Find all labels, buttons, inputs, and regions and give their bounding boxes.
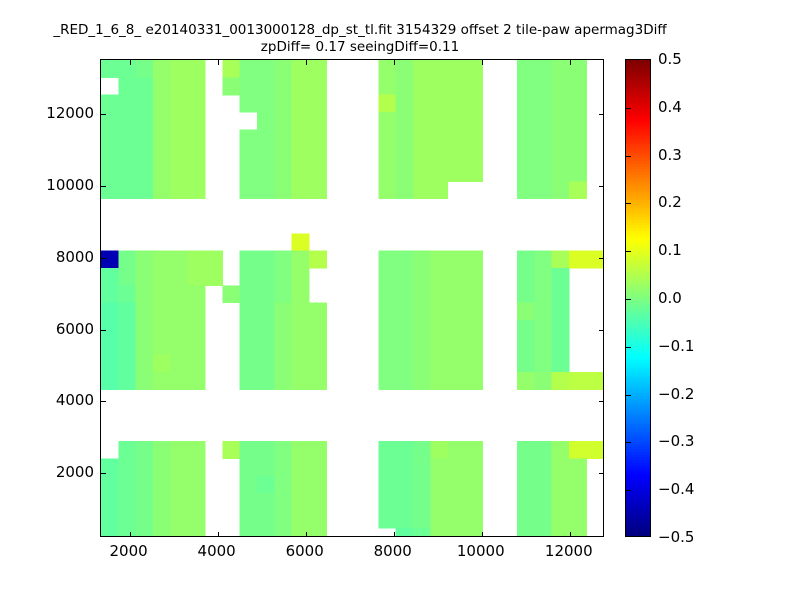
heatmap-cell (413, 303, 431, 321)
heatmap-cell (569, 511, 587, 529)
colorbar-tick-mark (626, 299, 631, 300)
heatmap-cell (413, 77, 431, 95)
heatmap-cell (378, 112, 396, 130)
heatmap-cell (569, 147, 587, 165)
heatmap-cell (396, 268, 414, 286)
heatmap-cell (534, 77, 552, 95)
heatmap-cell (118, 337, 136, 355)
heatmap-cell (240, 268, 258, 286)
heatmap-cell (534, 303, 552, 321)
heatmap-cell (569, 493, 587, 511)
heatmap-cell (430, 355, 448, 373)
figure-canvas: _RED_1_6_8_ e20140331_0013000128_dp_st_t… (0, 0, 800, 600)
heatmap-cell (569, 77, 587, 95)
heatmap-cell (448, 511, 466, 529)
heatmap-cell (170, 147, 188, 165)
heatmap-cell (552, 441, 570, 459)
colorbar-tick-label: 0.0 (658, 289, 682, 307)
heatmap-cell (413, 476, 431, 494)
heatmap-cell (101, 181, 119, 199)
heatmap-cell (413, 441, 431, 459)
heatmap-cell (534, 511, 552, 529)
heatmap-cell (378, 164, 396, 182)
heatmap-cell (465, 129, 483, 147)
heatmap-cell (153, 528, 171, 536)
heatmap-cell (448, 303, 466, 321)
heatmap-cell (396, 337, 414, 355)
heatmap-cell (552, 112, 570, 130)
x-tick-mark (306, 60, 307, 65)
heatmap-cell (292, 129, 310, 147)
heatmap-cell (534, 528, 552, 536)
heatmap-cell (552, 355, 570, 373)
heatmap-cell (517, 476, 535, 494)
heatmap-cell (240, 147, 258, 165)
heatmap-cell (430, 285, 448, 303)
heatmap-cell (448, 60, 466, 78)
heatmap-cell (430, 320, 448, 338)
heatmap-cell (170, 528, 188, 536)
heatmap-cell (118, 303, 136, 321)
heatmap-cell (188, 441, 206, 459)
heatmap-cell (413, 285, 431, 303)
heatmap-cell (552, 164, 570, 182)
heatmap-cell (465, 77, 483, 95)
heatmap-cell (517, 164, 535, 182)
x-tick-mark (394, 532, 395, 537)
heatmap-cell (188, 493, 206, 511)
heatmap-cell (448, 147, 466, 165)
heatmap-cell (136, 251, 154, 269)
heatmap-cell (413, 355, 431, 373)
heatmap-cell (170, 476, 188, 494)
heatmap-cell (396, 164, 414, 182)
y-tick-label: 6000 (56, 320, 94, 338)
heatmap-cell (257, 129, 275, 147)
heatmap-cell (257, 181, 275, 199)
heatmap-cell (396, 372, 414, 390)
heatmap-cell (413, 528, 431, 536)
heatmap-cell (274, 355, 292, 373)
heatmap-cell (309, 476, 327, 494)
heatmap-cell (257, 337, 275, 355)
heatmap-cell (448, 493, 466, 511)
heatmap-cell (101, 164, 119, 182)
heatmap-cell (188, 77, 206, 95)
heatmap-cell (378, 320, 396, 338)
heatmap-cell (569, 112, 587, 130)
heatmap-cell (430, 95, 448, 113)
heatmap-cell (136, 164, 154, 182)
heatmap-cell (517, 528, 535, 536)
heatmap-cell (118, 285, 136, 303)
heatmap-cell (413, 320, 431, 338)
heatmap-cell (292, 112, 310, 130)
heatmap-cell (153, 493, 171, 511)
heatmap-cell (448, 268, 466, 286)
heatmap-cell (430, 164, 448, 182)
heatmap-cell (378, 355, 396, 373)
x-tick-label: 12000 (545, 542, 593, 560)
heatmap-cell (136, 60, 154, 78)
y-tick-mark (101, 258, 106, 259)
heatmap-cell (240, 129, 258, 147)
heatmap-cell (153, 181, 171, 199)
x-tick-mark (570, 532, 571, 537)
heatmap-cell (274, 251, 292, 269)
y-tick-label: 2000 (56, 463, 94, 481)
heatmap-cell (586, 251, 603, 269)
heatmap-cell (118, 181, 136, 199)
heatmap-cell (534, 164, 552, 182)
heatmap-cell (136, 337, 154, 355)
heatmap-cell (153, 476, 171, 494)
heatmap-cell (292, 320, 310, 338)
heatmap-cell (292, 268, 310, 286)
heatmap-cell (465, 95, 483, 113)
x-tick-mark (306, 532, 307, 537)
heatmap-cell (274, 77, 292, 95)
heatmap-cell (309, 95, 327, 113)
heatmap-cell (257, 511, 275, 529)
heatmap-cell (292, 164, 310, 182)
heatmap-cell (257, 285, 275, 303)
heatmap-cell (534, 129, 552, 147)
heatmap-cell (257, 60, 275, 78)
heatmap-cell (430, 129, 448, 147)
heatmap-cell (101, 285, 119, 303)
heatmap-cell (552, 337, 570, 355)
heatmap-cell (430, 181, 448, 199)
heatmap-cell (240, 164, 258, 182)
heatmap-cell (136, 268, 154, 286)
heatmap-cell (448, 528, 466, 536)
heatmap-cell (292, 147, 310, 165)
colorbar-tick-mark (626, 156, 631, 157)
heatmap-cell (188, 129, 206, 147)
heatmap-cell (396, 285, 414, 303)
heatmap-cell (534, 441, 552, 459)
heatmap-cell (517, 372, 535, 390)
heatmap-cell (153, 164, 171, 182)
heatmap-cell (517, 60, 535, 78)
heatmap-cell (552, 285, 570, 303)
heatmap-cell (188, 372, 206, 390)
heatmap-cell (170, 337, 188, 355)
heatmap-cell (396, 303, 414, 321)
heatmap-cell (413, 268, 431, 286)
y-tick-mark (599, 401, 604, 402)
heatmap-cell (378, 493, 396, 511)
heatmap-cell (586, 372, 603, 390)
colorbar-gradient (626, 60, 650, 536)
heatmap-cell (240, 251, 258, 269)
heatmap-cell (517, 320, 535, 338)
heatmap-cell (378, 95, 396, 113)
heatmap-cell (413, 129, 431, 147)
heatmap-cell (517, 285, 535, 303)
heatmap-cell (136, 320, 154, 338)
heatmap-cell (274, 493, 292, 511)
heatmap-cell (430, 441, 448, 459)
heatmap-cell (274, 372, 292, 390)
heatmap-cell (118, 441, 136, 459)
heatmap-cell (240, 528, 258, 536)
heatmap-cell (292, 476, 310, 494)
heatmap-cell (517, 337, 535, 355)
colorbar-tick-label: −0.2 (658, 385, 694, 403)
heatmap-cell (118, 251, 136, 269)
heatmap-cell (257, 493, 275, 511)
heatmap-cell (309, 320, 327, 338)
y-tick-mark (101, 114, 106, 115)
x-tick-mark (394, 60, 395, 65)
heatmap-cell (101, 95, 119, 113)
colorbar-tick-label: −0.4 (658, 480, 694, 498)
heatmap-cell (292, 337, 310, 355)
heatmap-cell (188, 476, 206, 494)
heatmap-cell (430, 511, 448, 529)
colorbar-tick-mark (626, 108, 631, 109)
heatmap-cell (222, 285, 240, 303)
heatmap-cell (396, 77, 414, 95)
heatmap-cell (465, 372, 483, 390)
heatmap-cell (170, 355, 188, 373)
heatmap-cell (378, 441, 396, 459)
y-tick-mark (599, 330, 604, 331)
heatmap-cell (378, 77, 396, 95)
heatmap-cell (136, 112, 154, 130)
y-tick-mark (599, 186, 604, 187)
heatmap-cell (170, 441, 188, 459)
heatmap-cell (118, 372, 136, 390)
heatmap-cell (274, 459, 292, 477)
heatmap-cell (118, 528, 136, 536)
heatmap-cell (396, 147, 414, 165)
x-tick-label: 4000 (198, 542, 236, 560)
heatmap-cell (292, 459, 310, 477)
heatmap-cell (552, 95, 570, 113)
heatmap-cell (534, 372, 552, 390)
heatmap-cell (101, 511, 119, 529)
heatmap-cell (257, 441, 275, 459)
heatmap-cell (569, 95, 587, 113)
heatmap-cell (309, 251, 327, 269)
heatmap-cell (292, 355, 310, 373)
heatmap-cell (569, 372, 587, 390)
heatmap-cell (240, 355, 258, 373)
heatmap-cell (569, 60, 587, 78)
heatmap-cell (292, 60, 310, 78)
heatmap-cell (465, 268, 483, 286)
heatmap-cell (569, 164, 587, 182)
heatmap-cell (153, 285, 171, 303)
heatmap-cell (170, 268, 188, 286)
heatmap-cell (101, 60, 119, 78)
heatmap-cell (136, 476, 154, 494)
heatmap-cell (101, 129, 119, 147)
heatmap-cell (292, 181, 310, 199)
heatmap-cell (448, 77, 466, 95)
y-tick-label: 12000 (46, 104, 94, 122)
heatmap-cell (274, 320, 292, 338)
heatmap-cell (517, 129, 535, 147)
heatmap-cell (465, 355, 483, 373)
heatmap-cell (274, 337, 292, 355)
heatmap-cell (413, 164, 431, 182)
heatmap-cell (534, 251, 552, 269)
heatmap-cell (534, 285, 552, 303)
heatmap-cell (101, 147, 119, 165)
heatmap-cell (153, 147, 171, 165)
heatmap-cell (396, 511, 414, 529)
heatmap-cell (517, 112, 535, 130)
heatmap-cell (465, 303, 483, 321)
heatmap-cell (396, 320, 414, 338)
heatmap-cell (465, 337, 483, 355)
heatmap-cell (153, 268, 171, 286)
heatmap-cell (188, 164, 206, 182)
heatmap-cell (170, 60, 188, 78)
heatmap-cell (569, 476, 587, 494)
heatmap-cell (465, 112, 483, 130)
heatmap-cell (240, 493, 258, 511)
heatmap-cell (586, 441, 603, 459)
heatmap-cell (101, 476, 119, 494)
heatmap-cell (396, 493, 414, 511)
heatmap-cell (517, 355, 535, 373)
colorbar-tick-mark (626, 203, 631, 204)
heatmap-cell (448, 95, 466, 113)
heatmap-cell (136, 77, 154, 95)
heatmap-cell (257, 112, 275, 130)
heatmap-cell (188, 112, 206, 130)
heatmap-cell (170, 164, 188, 182)
heatmap-cell (153, 303, 171, 321)
heatmap-cell (378, 251, 396, 269)
heatmap-cell (378, 147, 396, 165)
heatmap-cell (153, 95, 171, 113)
y-tick-mark (101, 473, 106, 474)
heatmap-cell (448, 112, 466, 130)
heatmap-cell (309, 147, 327, 165)
heatmap-cell (378, 129, 396, 147)
heatmap-cell (552, 181, 570, 199)
heatmap-cell (378, 285, 396, 303)
y-tick-mark (599, 473, 604, 474)
heatmap-cell (136, 372, 154, 390)
heatmap-cell (413, 337, 431, 355)
heatmap-cell (552, 77, 570, 95)
heatmap-cell (292, 511, 310, 529)
heatmap-cell (170, 511, 188, 529)
heatmap-cell (240, 181, 258, 199)
heatmap-cell (448, 320, 466, 338)
heatmap-cell (188, 355, 206, 373)
x-tick-label: 6000 (286, 542, 324, 560)
heatmap-cell (517, 181, 535, 199)
heatmap-cell (292, 493, 310, 511)
heatmap-mesh (101, 60, 603, 536)
heatmap-cell (552, 528, 570, 536)
heatmap-cell (257, 372, 275, 390)
heatmap-cell (118, 95, 136, 113)
heatmap-cell (257, 303, 275, 321)
heatmap-cell (118, 355, 136, 373)
heatmap-cell (170, 493, 188, 511)
heatmap-cell (136, 355, 154, 373)
heatmap-cell (257, 268, 275, 286)
colorbar-tick-label: −0.5 (658, 528, 694, 546)
heatmap-cell (153, 372, 171, 390)
heatmap-cell (465, 459, 483, 477)
heatmap-cell (188, 268, 206, 286)
heatmap-cell (448, 164, 466, 182)
heatmap-cell (118, 77, 136, 95)
heatmap-cell (396, 355, 414, 373)
heatmap-cell (517, 303, 535, 321)
heatmap-cell (118, 493, 136, 511)
heatmap-cell (569, 181, 587, 199)
heatmap-cell (430, 493, 448, 511)
heatmap-cell (101, 337, 119, 355)
heatmap-cell (552, 493, 570, 511)
heatmap-cell (378, 476, 396, 494)
heatmap-cell (465, 251, 483, 269)
heatmap-cell (170, 303, 188, 321)
y-tick-mark (101, 330, 106, 331)
heatmap-cell (465, 493, 483, 511)
heatmap-cell (257, 164, 275, 182)
y-tick-mark (599, 258, 604, 259)
heatmap-cell (378, 303, 396, 321)
heatmap-cell (292, 251, 310, 269)
heatmap-cell (309, 355, 327, 373)
heatmap-cell (552, 372, 570, 390)
heatmap-cell (534, 112, 552, 130)
heatmap-cell (153, 112, 171, 130)
heatmap-cell (465, 320, 483, 338)
heatmap-cell (240, 459, 258, 477)
heatmap-cell (448, 285, 466, 303)
heatmap-cell (448, 251, 466, 269)
x-tick-label: 2000 (110, 542, 148, 560)
heatmap-cell (170, 77, 188, 95)
heatmap-cell (118, 511, 136, 529)
heatmap-cell (170, 372, 188, 390)
heatmap-cell (136, 303, 154, 321)
heatmap-cell (274, 95, 292, 113)
heatmap-cell (309, 511, 327, 529)
heatmap-cell (309, 181, 327, 199)
heatmap-cell (153, 77, 171, 95)
figure-title-block: _RED_1_6_8_ e20140331_0013000128_dp_st_t… (0, 22, 720, 56)
heatmap-cell (413, 459, 431, 477)
heatmap-cell (292, 528, 310, 536)
heatmap-cell (517, 251, 535, 269)
colorbar-tick-mark (626, 251, 631, 252)
heatmap-cell (153, 129, 171, 147)
heatmap-cell (569, 459, 587, 477)
y-tick-mark (101, 401, 106, 402)
heatmap-cell (101, 268, 119, 286)
heatmap-cell (430, 77, 448, 95)
heatmap-cell (257, 355, 275, 373)
heatmap-cell (240, 511, 258, 529)
heatmap-cell (240, 441, 258, 459)
heatmap-cell (188, 337, 206, 355)
figure-title-line1: _RED_1_6_8_ e20140331_0013000128_dp_st_t… (0, 22, 720, 39)
